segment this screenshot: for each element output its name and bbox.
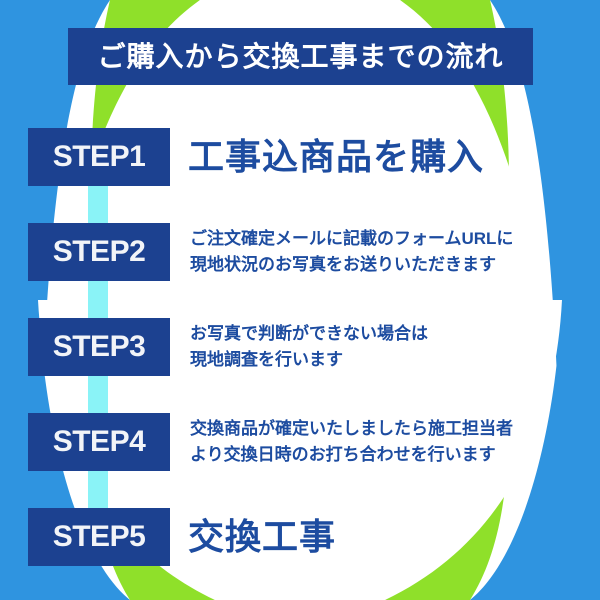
step-row-5: STEP5 交換工事 (0, 508, 600, 566)
step-description-line-3-2: 現地調査を行います (190, 347, 428, 373)
infographic-canvas: ご購入から交換工事までの流れ STEP1 工事込商品を購入 STEP2 ご注文確… (0, 0, 600, 600)
connector-line-step2-step3 (88, 281, 108, 321)
step-badge-label-2: STEP2 (53, 237, 146, 267)
step-row-4: STEP4 交換商品が確定いたしましたら施工担当者 より交換日時のお打ち合わせを… (0, 413, 600, 471)
step-description-line-3-1: お写真で判断ができない場合は (190, 321, 428, 347)
header-banner: ご購入から交換工事までの流れ (68, 28, 533, 85)
step-description-line-5-1: 交換工事 (188, 517, 336, 557)
connector-line-step3-step4 (88, 376, 108, 416)
step-description-3: お写真で判断ができない場合は 現地調査を行います (190, 318, 428, 376)
step-description-5: 交換工事 (188, 508, 336, 566)
page-title: ご購入から交換工事までの流れ (97, 43, 503, 71)
step-description-line-1-1: 工事込商品を購入 (188, 137, 484, 177)
step-badge-label-4: STEP4 (53, 427, 146, 457)
step-badge-label-1: STEP1 (53, 142, 146, 172)
step-row-1: STEP1 工事込商品を購入 (0, 128, 600, 186)
step-badge-5: STEP5 (28, 508, 170, 566)
step-description-line-4-1: 交換商品が確定いたしましたら施工担当者 (190, 416, 513, 442)
step-description-line-4-2: より交換日時のお打ち合わせを行います (190, 442, 513, 468)
step-badge-4: STEP4 (28, 413, 170, 471)
connector-line-step4-step5 (88, 471, 108, 511)
step-badge-label-5: STEP5 (53, 522, 146, 552)
step-row-3: STEP3 お写真で判断ができない場合は 現地調査を行います (0, 318, 600, 376)
connector-line-step1-step2 (88, 186, 108, 226)
step-description-line-2-1: ご注文確定メールに記載のフォームURLに (190, 226, 513, 252)
step-description-line-2-2: 現地状況のお写真をお送りいただきます (190, 252, 513, 278)
step-row-2: STEP2 ご注文確定メールに記載のフォームURLに 現地状況のお写真をお送りい… (0, 223, 600, 281)
step-description-2: ご注文確定メールに記載のフォームURLに 現地状況のお写真をお送りいただきます (190, 223, 513, 281)
step-badge-label-3: STEP3 (53, 332, 146, 362)
step-description-4: 交換商品が確定いたしましたら施工担当者 より交換日時のお打ち合わせを行います (190, 413, 513, 471)
step-badge-2: STEP2 (28, 223, 170, 281)
step-description-1: 工事込商品を購入 (188, 128, 484, 186)
step-badge-1: STEP1 (28, 128, 170, 186)
step-badge-3: STEP3 (28, 318, 170, 376)
